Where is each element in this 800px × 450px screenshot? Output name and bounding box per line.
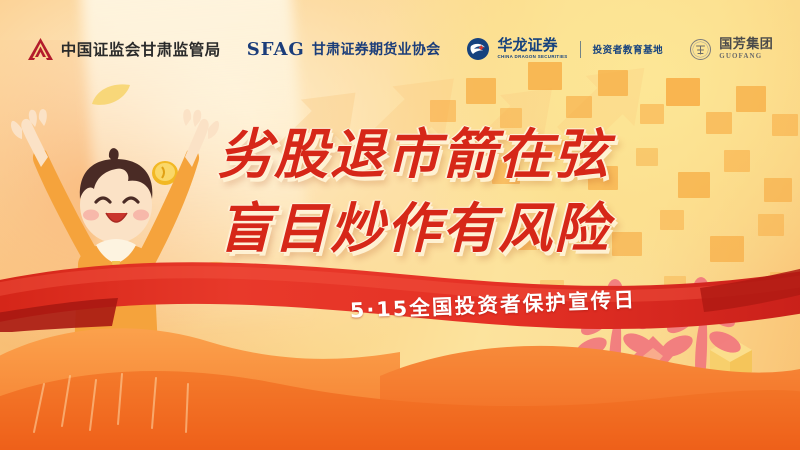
logo-csrc-gansu-label: 中国证监会甘肃监管局 <box>61 38 221 60</box>
logo-guofang-english: GUOFANG <box>719 53 762 60</box>
logo-sfag-label: 甘肃证券期货业协会 <box>312 39 441 59</box>
guofang-seal-icon <box>689 38 712 61</box>
logo-hualong-securities: 华龙证券 CHINA DRAGON SECURITIES 投资者教育基地 <box>466 37 663 61</box>
headline-line-2: 盲目炒作有风险 <box>218 192 610 266</box>
logo-divider <box>580 41 581 58</box>
promotional-banner: 中国证监会甘肃监管局 SFAG 甘肃证券期货业协会 华龙证券 CHINA DRA… <box>0 0 800 450</box>
logo-hualong-english: CHINA DRAGON SECURITIES <box>497 55 567 59</box>
logo-guofang-group: 国芳集团 GUOFANG <box>689 38 773 61</box>
headline-line-1: 劣股退市箭在弦 <box>218 118 610 192</box>
headline-block: 劣股退市箭在弦 盲目炒作有风险 <box>218 118 610 266</box>
logo-csrc-gansu: 中国证监会甘肃监管局 <box>27 37 221 62</box>
sponsor-logo-bar: 中国证监会甘肃监管局 SFAG 甘肃证券期货业协会 华龙证券 CHINA DRA… <box>0 27 800 71</box>
logo-sfag-abbr: SFAG <box>247 39 305 60</box>
logo-hualong-subtitle: 投资者教育基地 <box>593 42 664 56</box>
logo-sfag: SFAG 甘肃证券期货业协会 <box>247 39 441 60</box>
ribbon-label: 5·15全国投资者保护宣传日 <box>349 283 636 324</box>
logo-hualong-name: 华龙证券 <box>497 38 557 53</box>
logo-guofang-name: 国芳集团 <box>719 38 773 52</box>
csrc-triangle-emblem-icon <box>27 37 54 62</box>
dragon-circle-icon <box>466 37 490 61</box>
